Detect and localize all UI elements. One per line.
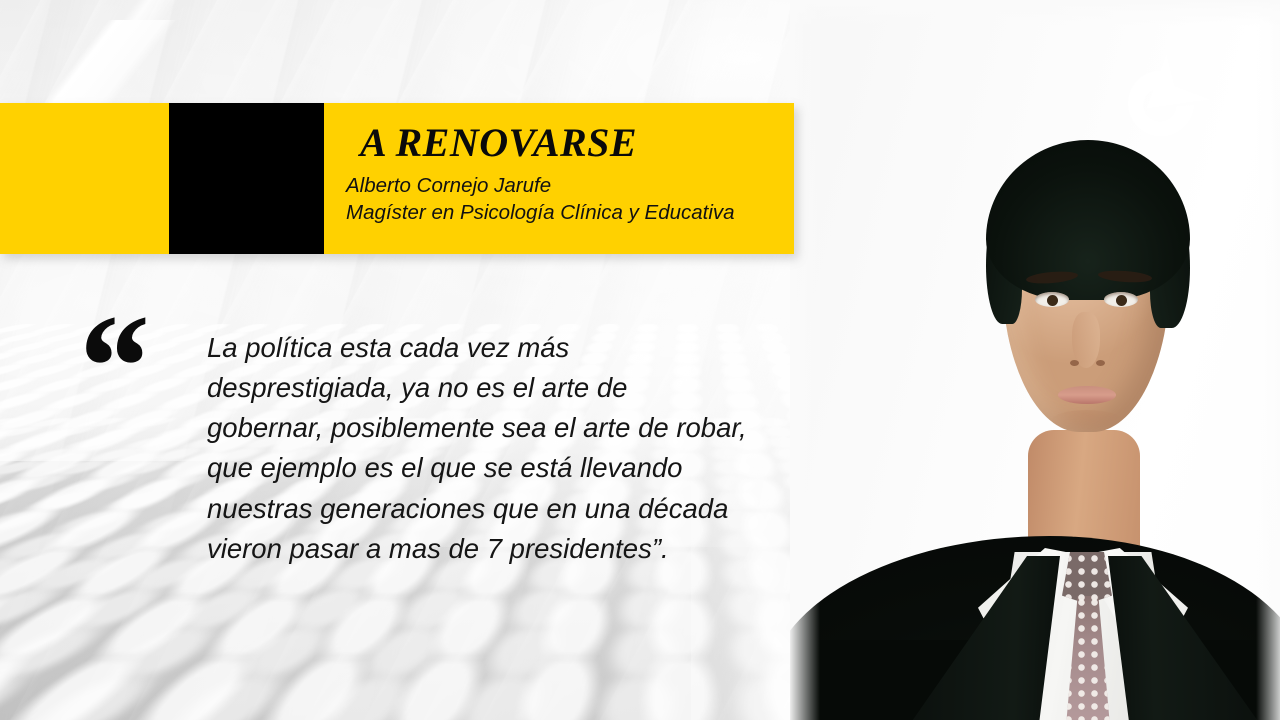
header-black-block — [169, 103, 324, 254]
graphic-canvas: A RENOVARSE Alberto Cornejo Jarufe Magís… — [0, 0, 1280, 720]
portrait-pupil-left — [1047, 295, 1058, 306]
portrait-pupil-right — [1116, 295, 1127, 306]
portrait-lips — [1058, 386, 1116, 404]
quote-open-mark: “ — [72, 292, 141, 442]
circular-arrow-logo — [1106, 52, 1216, 148]
author-credential: Magíster en Psicología Clínica y Educati… — [346, 199, 786, 226]
portrait-chin — [1052, 410, 1122, 430]
header-text-group: A RENOVARSE Alberto Cornejo Jarufe Magís… — [340, 103, 786, 254]
author-name: Alberto Cornejo Jarufe — [346, 172, 786, 199]
quote-text: La política esta cada vez más desprestig… — [207, 328, 747, 569]
page-title: A RENOVARSE — [360, 123, 786, 163]
header-banner: A RENOVARSE Alberto Cornejo Jarufe Magís… — [0, 103, 794, 254]
portrait-nostril-left — [1070, 360, 1079, 366]
portrait-tie-knot-pattern — [1062, 552, 1112, 604]
portrait-nostril-right — [1096, 360, 1105, 366]
